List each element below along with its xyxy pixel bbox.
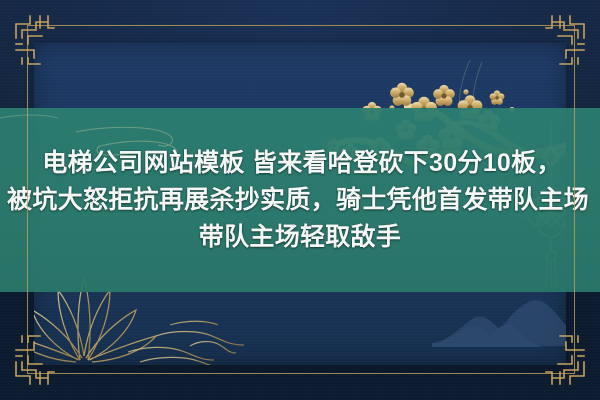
headline-line-2: 被坑大怒拒抗再展杀抄实质，骑士凭他首发带队主场 <box>7 183 589 218</box>
headline-block: 电梯公司网站模板 皆来看哈登砍下30分10板， 被坑大怒拒抗再展杀抄实质，骑士凭… <box>0 108 600 292</box>
banner-canvas: 电梯公司网站模板 皆来看哈登砍下30分10板， 被坑大怒拒抗再展杀抄实质，骑士凭… <box>0 0 600 400</box>
headline-line-1: 电梯公司网站模板 皆来看哈登砍下30分10板， <box>42 146 561 181</box>
headline-line-3: 带队主场轻取敌手 <box>199 220 401 255</box>
